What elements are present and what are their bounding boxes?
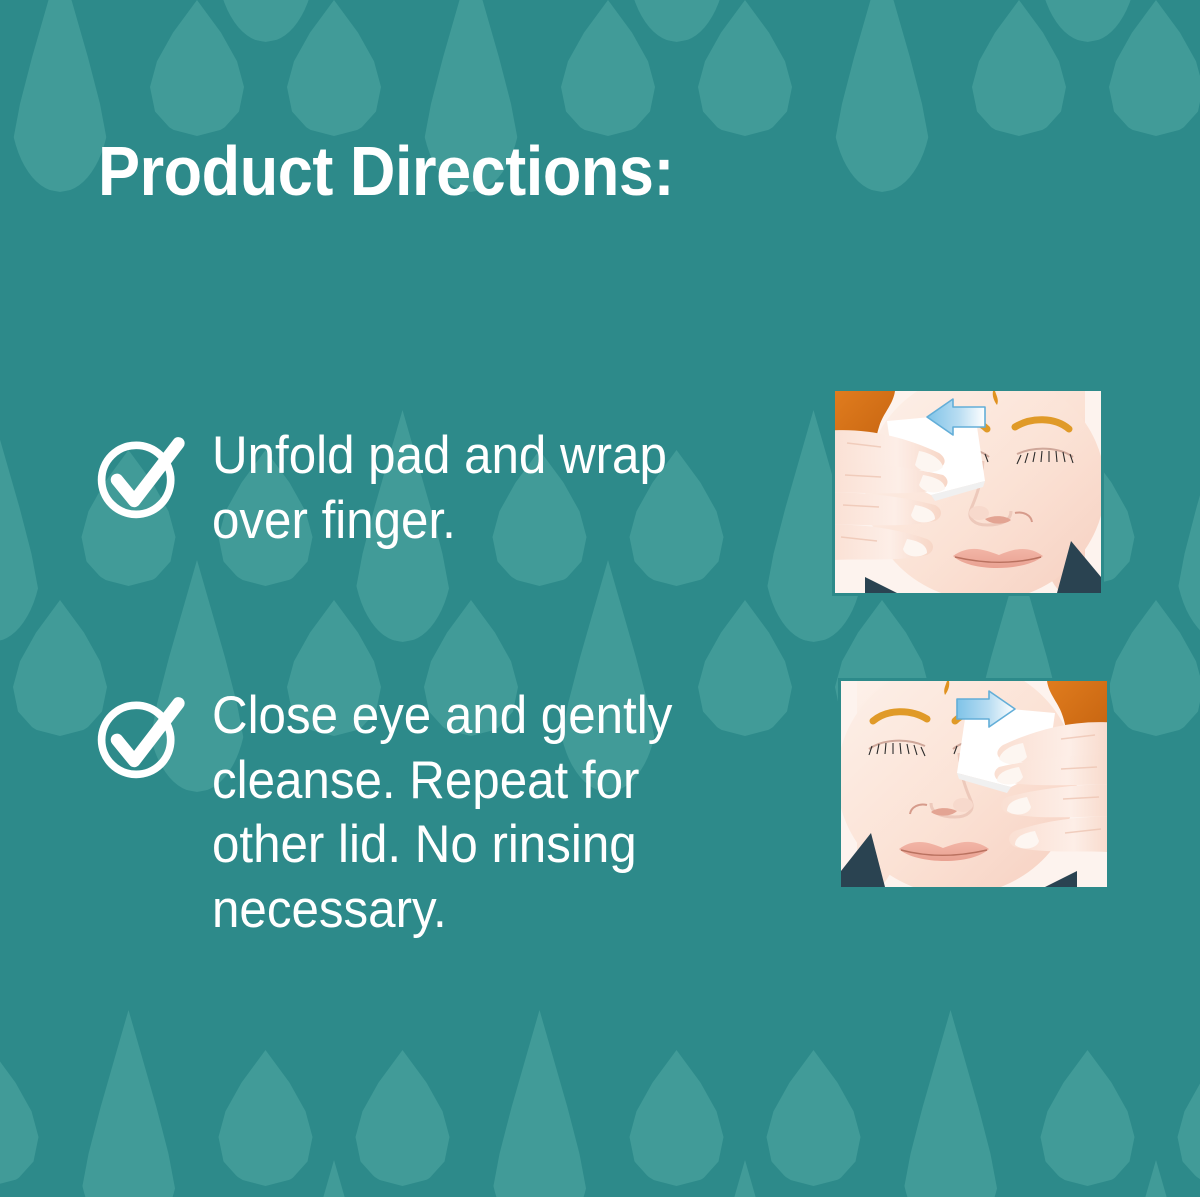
water-drop-shape <box>627 0 727 42</box>
unfold-pad-wrap-finger-illustration <box>832 388 1104 596</box>
water-drop-shape <box>79 1010 179 1197</box>
water-drop-shape <box>695 1160 795 1197</box>
water-drop-shape <box>216 1050 316 1186</box>
water-drop-shape <box>10 0 110 192</box>
water-drop-shape <box>695 0 795 136</box>
close-eye-cleanse-illustration <box>838 678 1110 890</box>
page-title: Product Directions: <box>98 136 674 206</box>
water-drop-shape <box>764 1050 864 1186</box>
checkmark-circle-icon <box>92 688 188 784</box>
water-drop-shape <box>1175 410 1200 642</box>
water-drop-shape <box>0 410 42 642</box>
water-drop-shape <box>0 1050 42 1186</box>
water-drop-shape <box>1038 1050 1138 1186</box>
water-drop-shape <box>969 0 1069 136</box>
checkmark-circle-icon <box>92 428 188 524</box>
water-drop-shape <box>1038 0 1138 42</box>
water-drop-shape <box>1106 0 1200 136</box>
direction-step-1: Unfold pad and wrap over finger. <box>92 424 792 553</box>
water-drop-shape <box>558 0 658 136</box>
direction-step-2: Close eye and gently cleanse. Repeat for… <box>92 684 802 943</box>
step-2-text: Close eye and gently cleanse. Repeat for… <box>212 684 761 943</box>
water-drop-shape <box>1175 1050 1200 1186</box>
water-drop-shape <box>353 1050 453 1186</box>
water-drop-shape <box>147 0 247 136</box>
water-drop-shape <box>1106 600 1200 736</box>
water-drop-shape <box>627 1050 727 1186</box>
water-drop-shape <box>284 0 384 136</box>
step-1-text: Unfold pad and wrap over finger. <box>212 424 751 553</box>
water-drop-shape <box>216 0 316 42</box>
water-drop-shape <box>901 1010 1001 1197</box>
water-drop-shape <box>490 1010 590 1197</box>
product-directions-infographic: Product Directions: Unfold pad and wrap … <box>0 0 1200 1197</box>
water-drop-shape <box>1106 1160 1200 1197</box>
water-drop-shape <box>832 0 932 192</box>
water-drop-shape <box>284 1160 384 1197</box>
